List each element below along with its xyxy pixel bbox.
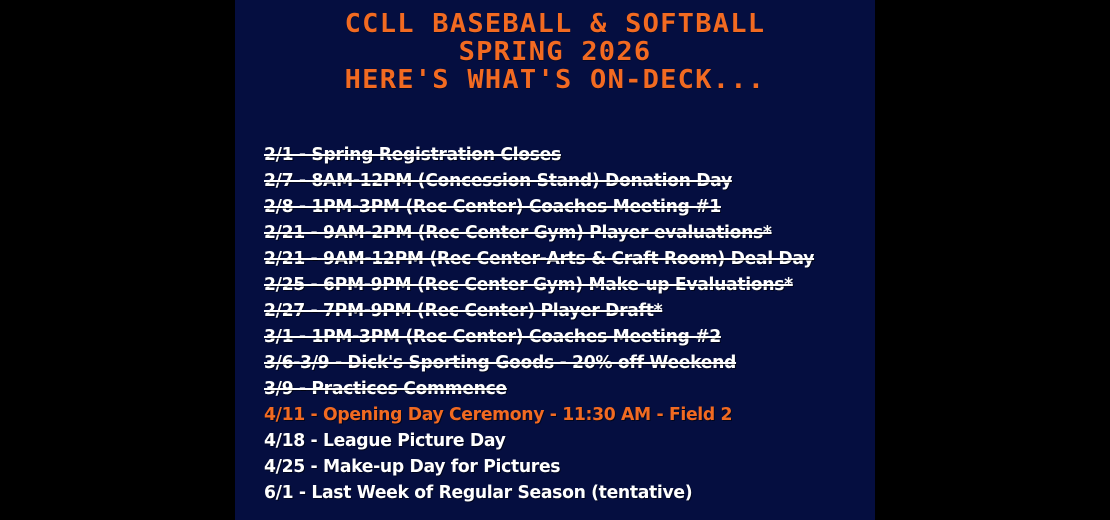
- title-line-2: SPRING 2026: [235, 38, 875, 66]
- schedule-event-row: 2/7 - 8AM-12PM (Concession Stand) Donati…: [264, 169, 855, 195]
- schedule-event-row: 3/9 - Practices Commence: [264, 377, 855, 403]
- schedule-event-row: 2/1 - Spring Registration Closes: [264, 143, 855, 169]
- title-block: CCLL BASEBALL & SOFTBALL SPRING 2026 HER…: [235, 10, 875, 94]
- schedule-list: 2/1 - Spring Registration Closes2/7 - 8A…: [264, 143, 864, 507]
- schedule-event-row: 4/11 - Opening Day Ceremony - 11:30 AM -…: [264, 403, 855, 429]
- letterbox-left: [0, 0, 235, 520]
- flyer-panel: CCLL BASEBALL & SOFTBALL SPRING 2026 HER…: [235, 0, 875, 520]
- schedule-event-row: 2/21 - 9AM-2PM (Rec Center Gym) Player e…: [264, 221, 855, 247]
- letterbox-right: [875, 0, 1110, 520]
- schedule-event-row: 6/1 - Last Week of Regular Season (tenta…: [264, 481, 855, 507]
- schedule-event-row: 4/25 - Make-up Day for Pictures: [264, 455, 855, 481]
- schedule-event-row: 2/21 - 9AM-12PM (Rec Center-Arts & Craft…: [264, 247, 855, 273]
- schedule-event-row: 2/8 - 1PM-3PM (Rec Center) Coaches Meeti…: [264, 195, 855, 221]
- schedule-event-row: 2/27 - 7PM-9PM (Rec Center) Player Draft…: [264, 299, 855, 325]
- schedule-event-row: 3/6-3/9 - Dick's Sporting Goods - 20% of…: [264, 351, 855, 377]
- title-line-3: HERE'S WHAT'S ON-DECK...: [235, 66, 875, 94]
- flyer-graphic: CCLL BASEBALL & SOFTBALL SPRING 2026 HER…: [0, 0, 1110, 520]
- schedule-event-row: 2/25 - 6PM-9PM (Rec Center Gym) Make-up …: [264, 273, 855, 299]
- schedule-event-row: 4/18 - League Picture Day: [264, 429, 855, 455]
- schedule-event-row: 3/1 - 1PM-3PM (Rec Center) Coaches Meeti…: [264, 325, 855, 351]
- title-line-1: CCLL BASEBALL & SOFTBALL: [235, 10, 875, 38]
